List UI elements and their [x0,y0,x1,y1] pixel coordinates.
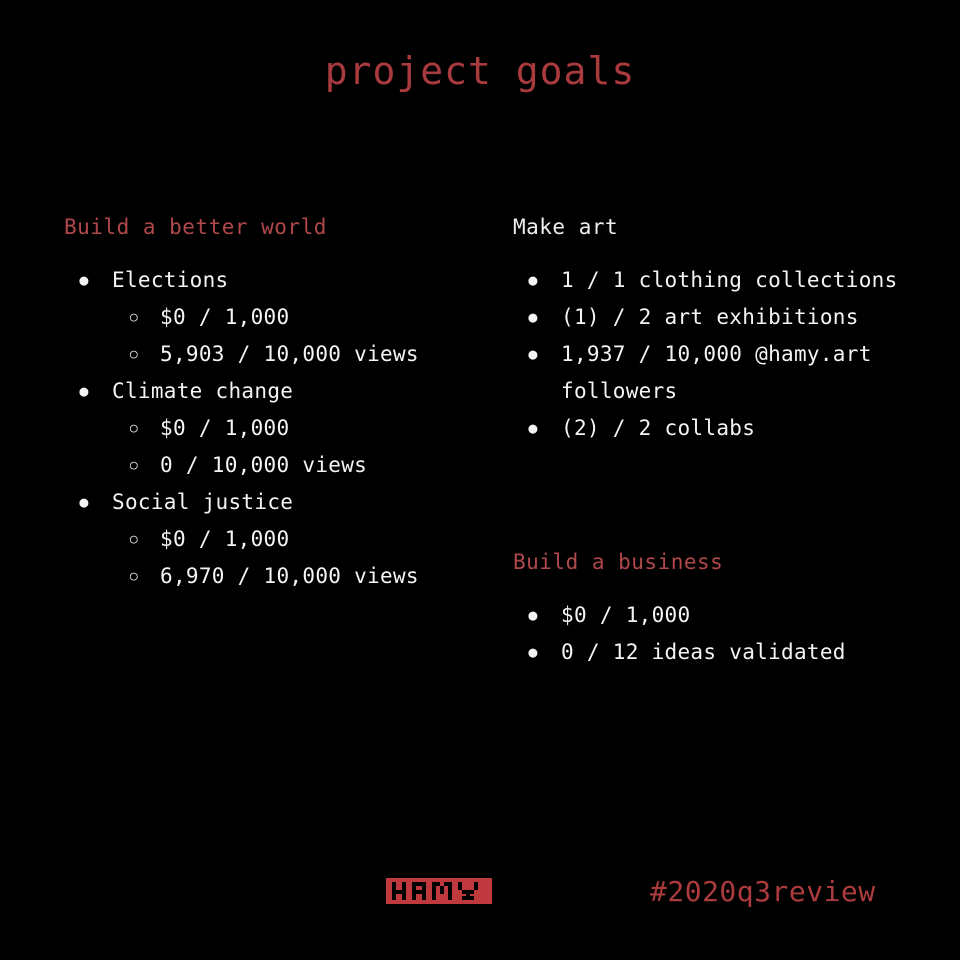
sub-list-item: ○ $0 / 1,000 [112,410,484,447]
bullet-hollow-icon: ○ [124,447,144,484]
sub-list-item-label: $0 / 1,000 [160,410,484,447]
list-item: ● 1 / 1 clothing collections [513,262,913,299]
sub-bullet-list: ○ $0 / 1,000 ○ 0 / 10,000 views [112,410,484,484]
section-heading: Build a business [513,548,913,576]
section-heading: Make art [513,213,913,241]
bullet-filled-icon: ● [74,373,94,410]
sub-list-item-label: $0 / 1,000 [160,521,484,558]
bullet-list: ● Elections ○ $0 / 1,000 ○ 5,903 / 10,00… [64,262,484,595]
hamy-logo [386,878,492,904]
list-item: ● (2) / 2 collabs [513,410,913,447]
bullet-hollow-icon: ○ [124,336,144,373]
sub-list-item-label: 6,970 / 10,000 views [160,558,484,595]
sub-list-item-label: $0 / 1,000 [160,299,484,336]
bullet-filled-icon: ● [523,597,543,634]
bullet-filled-icon: ● [523,634,543,671]
list-item: ● $0 / 1,000 [513,597,913,634]
sub-list-item: ○ 0 / 10,000 views [112,447,484,484]
bullet-list: ● 1 / 1 clothing collections ● (1) / 2 a… [513,262,913,447]
list-item: ● Social justice ○ $0 / 1,000 ○ 6,970 / … [64,484,484,595]
section-heading: Build a better world [64,213,484,241]
sub-list-item: ○ 6,970 / 10,000 views [112,558,484,595]
bullet-hollow-icon: ○ [124,299,144,336]
list-item-label: (1) / 2 art exhibitions [561,299,913,336]
sub-bullet-list: ○ $0 / 1,000 ○ 5,903 / 10,000 views [112,299,484,373]
list-item: ● 1,937 / 10,000 @hamy.art followers [513,336,913,410]
page-title: project goals [0,48,960,94]
list-item-label: 1 / 1 clothing collections [561,262,913,299]
sub-list-item-label: 0 / 10,000 views [160,447,484,484]
list-item: ● Climate change ○ $0 / 1,000 ○ 0 / 10,0… [64,373,484,484]
content-columns: Build a better world ● Elections ○ $0 / … [0,213,960,863]
section-build-a-business: Build a business ● $0 / 1,000 ● 0 / 12 i… [513,548,913,671]
footer: #2020q3review [0,868,960,928]
bullet-hollow-icon: ○ [124,558,144,595]
slide-root: project goals Build a better world ● Ele… [0,0,960,960]
list-item-label: $0 / 1,000 [561,597,913,634]
bullet-filled-icon: ● [74,484,94,521]
list-item-label: (2) / 2 collabs [561,410,913,447]
list-item-label: 0 / 12 ideas validated [561,634,913,671]
list-item-label: Climate change [112,373,484,410]
bullet-filled-icon: ● [523,336,543,373]
sub-bullet-list: ○ $0 / 1,000 ○ 6,970 / 10,000 views [112,521,484,595]
hashtag-label: #2020q3review [650,872,876,912]
left-column: Build a better world ● Elections ○ $0 / … [64,213,484,595]
sub-list-item: ○ $0 / 1,000 [112,299,484,336]
list-item: ● 0 / 12 ideas validated [513,634,913,671]
bullet-list: ● $0 / 1,000 ● 0 / 12 ideas validated [513,597,913,671]
bullet-hollow-icon: ○ [124,410,144,447]
bullet-filled-icon: ● [523,262,543,299]
list-item-label: 1,937 / 10,000 @hamy.art followers [561,336,913,410]
sub-list-item: ○ 5,903 / 10,000 views [112,336,484,373]
bullet-filled-icon: ● [74,262,94,299]
bullet-hollow-icon: ○ [124,521,144,558]
section-spacer [513,447,913,548]
sub-list-item: ○ $0 / 1,000 [112,521,484,558]
list-item: ● (1) / 2 art exhibitions [513,299,913,336]
sub-list-item-label: 5,903 / 10,000 views [160,336,484,373]
right-column: Make art ● 1 / 1 clothing collections ● … [513,213,913,671]
section-build-a-better-world: Build a better world ● Elections ○ $0 / … [64,213,484,595]
list-item: ● Elections ○ $0 / 1,000 ○ 5,903 / 10,00… [64,262,484,373]
list-item-label: Elections [112,262,484,299]
list-item-label: Social justice [112,484,484,521]
bullet-filled-icon: ● [523,410,543,447]
bullet-filled-icon: ● [523,299,543,336]
section-make-art: Make art ● 1 / 1 clothing collections ● … [513,213,913,447]
